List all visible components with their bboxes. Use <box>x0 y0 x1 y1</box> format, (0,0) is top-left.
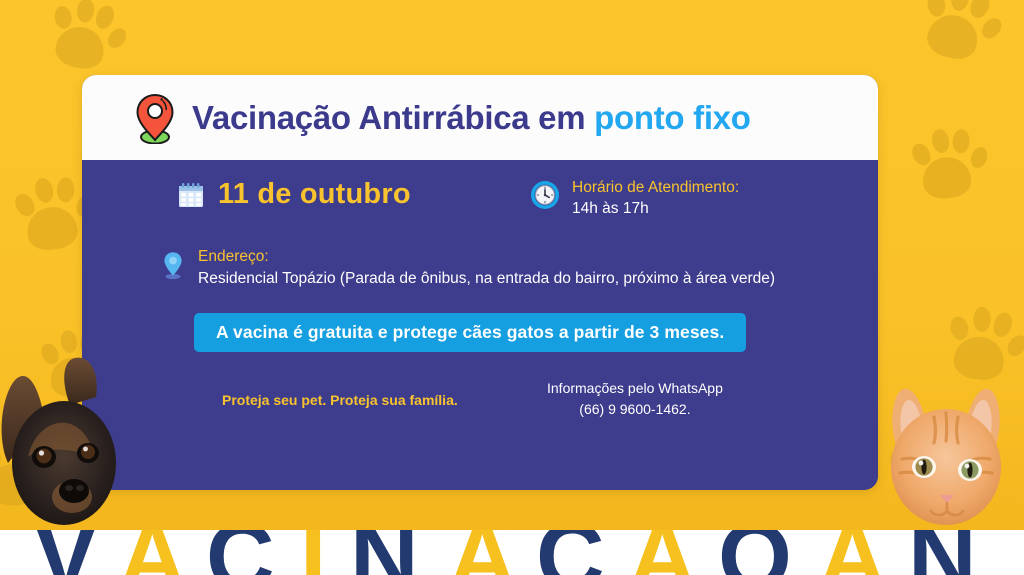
cut-letter: N <box>908 530 975 575</box>
free-vaccine-banner: A vacina é gratuita e protege cães gatos… <box>194 313 746 352</box>
whatsapp-label: Informações pelo WhatsApp <box>547 378 723 400</box>
hours-value: 14h às 17h <box>572 199 739 220</box>
poster-canvas: Vacinação Antirrábica em ponto fixo <box>0 0 1024 575</box>
whatsapp-block: Informações pelo WhatsApp (66) 9 9600-14… <box>547 378 723 421</box>
page-title-main: Vacinação Antirrábica em <box>192 99 594 136</box>
hours-block: Horário de Atendimento: 14h às 17h <box>530 178 739 220</box>
slogan-text: Proteja seu pet. Proteja sua família. <box>222 378 547 408</box>
date-and-hours-row: 11 de outubro <box>82 160 878 220</box>
cut-letter: N <box>350 530 417 575</box>
poster-card: Vacinação Antirrábica em ponto fixo <box>82 75 878 490</box>
clock-icon <box>530 180 560 210</box>
event-date: 11 de outubro <box>218 178 411 211</box>
cut-letter: A <box>818 530 885 575</box>
map-pin-icon <box>132 92 178 144</box>
cut-letter: I <box>300 530 324 575</box>
cut-letter: C <box>206 530 273 575</box>
cut-letter: Ç <box>536 530 603 575</box>
calendar-icon <box>178 182 204 208</box>
dog-photo <box>0 345 160 530</box>
cut-letter: Ã <box>628 530 695 575</box>
card-header: Vacinação Antirrábica em ponto fixo <box>82 75 878 160</box>
location-pin-icon <box>160 250 186 280</box>
card-body: 11 de outubro <box>82 160 878 490</box>
cut-letter: O <box>718 530 790 575</box>
highlight-banner-wrap: A vacina é gratuita e protege cães gatos… <box>82 291 878 352</box>
hours-label: Horário de Atendimento: <box>572 178 739 199</box>
cut-letter: A <box>448 530 515 575</box>
cut-letter: A <box>118 530 185 575</box>
footer-row: Proteja seu pet. Proteja sua família. In… <box>82 352 878 421</box>
whatsapp-number: (66) 9 9600-1462. <box>547 399 723 421</box>
page-title-highlight: ponto fixo <box>594 99 750 136</box>
date-block: 11 de outubro <box>178 178 518 211</box>
page-title: Vacinação Antirrábica em ponto fixo <box>192 99 751 137</box>
cat-photo <box>876 375 1016 530</box>
bottom-lettering-strip: V A C I N A Ç Ã O A N <box>0 530 1024 575</box>
cut-letter: V <box>34 530 95 575</box>
address-value: Residencial Topázio (Parada de ônibus, n… <box>198 268 775 290</box>
address-label: Endereço: <box>198 246 775 268</box>
address-row: Endereço: Residencial Topázio (Parada de… <box>82 220 878 291</box>
